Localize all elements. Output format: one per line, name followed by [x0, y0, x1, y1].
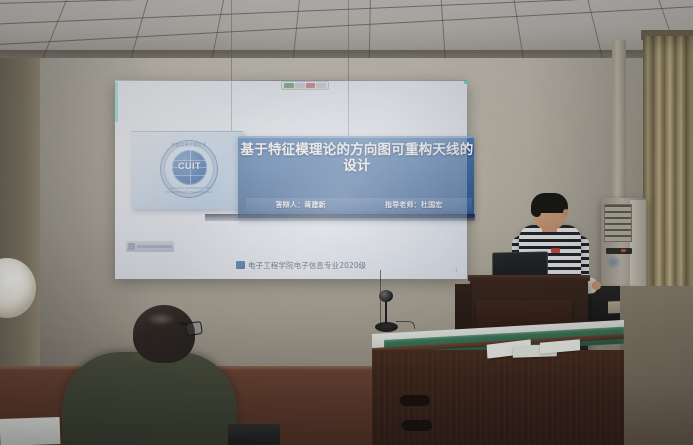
slide-advisor-name: 指导老师：杜国宏 — [385, 200, 443, 210]
presentation-toolbar[interactable] — [281, 81, 329, 90]
air-conditioner-side — [630, 200, 646, 288]
toolbar-prev-icon[interactable] — [284, 83, 294, 88]
slide-page-number: 1 — [455, 268, 458, 274]
desk-cutout-2 — [402, 420, 432, 431]
air-conditioner-display-panel[interactable] — [606, 248, 632, 254]
slide-footer-icon — [236, 261, 245, 269]
air-conditioner-led-icon — [621, 249, 626, 252]
panel-edge-accent-left — [115, 82, 118, 122]
toolbar-next-icon[interactable] — [316, 83, 326, 88]
panel-edge-accent-right — [464, 81, 468, 84]
audience-glasses-icon — [185, 321, 203, 336]
cuit-logo-arc-bottom-text: CHENGDU UNIVERSITY OF INFORMATION TECHNO… — [160, 186, 218, 194]
presenter-hand — [592, 281, 601, 290]
air-conditioner-decal — [605, 255, 621, 269]
toolbar-play-icon[interactable] — [295, 83, 305, 88]
slide-footer-text: 电子工程学院电子信息专业2020级 — [248, 260, 366, 271]
microphone-wire — [396, 321, 415, 329]
desk-right-panel — [620, 286, 693, 445]
presenter-ear — [563, 209, 568, 217]
presentation-room-photo: 成都信息工程大学 CUIT CHENGDU UNIVERSITY OF INFO… — [0, 0, 693, 445]
watermark-label — [137, 245, 172, 248]
cuit-logo-arc-top-text: 成都信息工程大学 — [160, 142, 218, 148]
slide-watermark-badge — [126, 241, 174, 252]
cuit-logo-text: CUIT — [172, 161, 207, 171]
desk-cutout-1 — [400, 395, 430, 406]
watermark-icon — [128, 243, 135, 250]
left-wall-column — [0, 58, 40, 388]
presenter-shirt-logo — [551, 248, 560, 253]
slide-title-text: 基于特征模理论的方向图可重构天线的设计 — [240, 142, 474, 174]
audience-papers — [0, 417, 60, 445]
audience-hair-highlight — [146, 312, 176, 326]
slide-band-dropshadow — [205, 214, 475, 221]
air-conditioner-grille-icon — [604, 204, 632, 242]
presenter-hair-side — [531, 201, 541, 217]
slide-logo-plate-edge — [131, 131, 243, 132]
slide-footer: 电子工程学院电子信息专业2020级 — [236, 259, 416, 271]
toolbar-stop-icon[interactable] — [306, 83, 316, 88]
audience-device — [228, 424, 280, 445]
slide-title-band-highlight — [238, 136, 474, 138]
microphone-head-icon — [379, 290, 393, 302]
slide-presenter-name: 答辩人：蒋建新 — [275, 200, 325, 210]
slide-presenter-row: 答辩人：蒋建新 指导老师：杜国宏 — [246, 198, 472, 211]
